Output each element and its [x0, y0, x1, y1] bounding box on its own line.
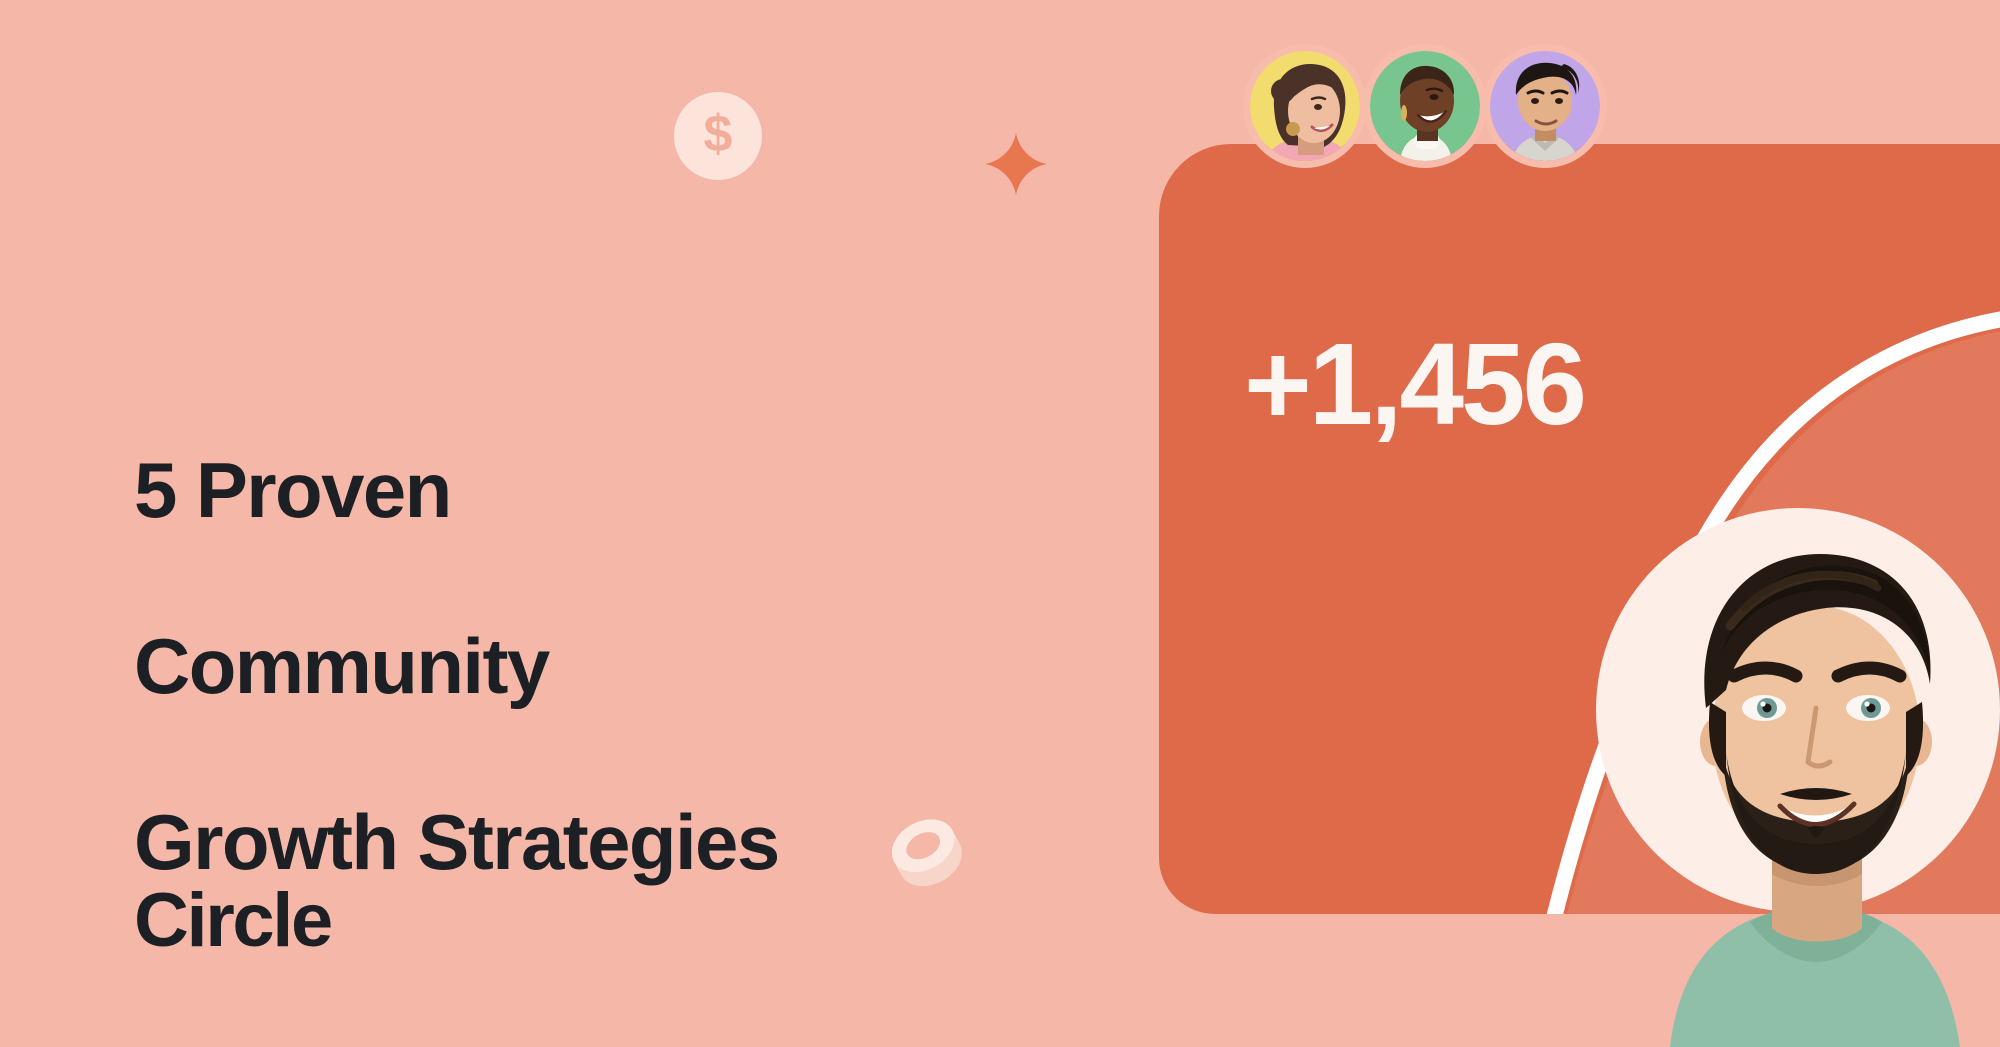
sparkle-icon — [985, 133, 1047, 195]
brand-logo: Circle — [134, 876, 331, 966]
headline-line-2: Community — [134, 622, 954, 710]
avatar-image-3 — [1490, 51, 1600, 161]
avatar-image-1 — [1250, 51, 1360, 161]
avatar-member-2 — [1363, 44, 1487, 168]
dollar-coin-icon: $ — [674, 92, 762, 180]
stat-value: +1,456 — [1244, 322, 1584, 446]
promo-banner: $ +1,456 — [0, 0, 2000, 1047]
avatar-image-2 — [1370, 51, 1480, 161]
headline-line-1: 5 Proven — [134, 446, 954, 534]
headline-line-3: Growth Strategies — [134, 798, 954, 886]
avatar-member-1 — [1243, 44, 1367, 168]
dollar-sign-glyph: $ — [704, 108, 733, 160]
avatar-member-3 — [1483, 44, 1607, 168]
featured-portrait — [1630, 476, 2000, 1047]
